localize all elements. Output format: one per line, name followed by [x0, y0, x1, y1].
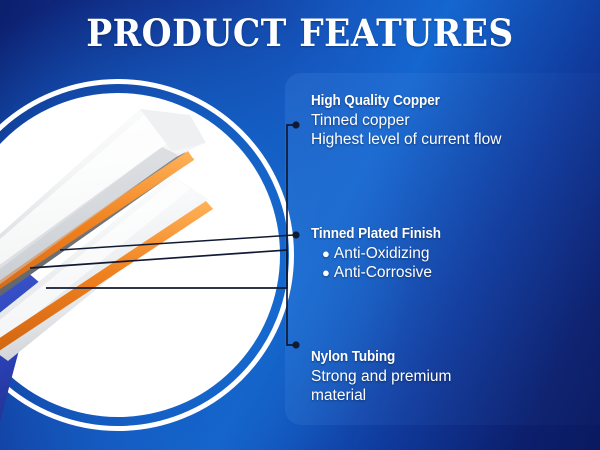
- callout-nylon-tubing: Nylon Tubing Strong and premium material: [311, 348, 451, 405]
- leader-dot-nylon: [292, 341, 299, 348]
- leader-dot-copper: [292, 121, 299, 128]
- callout-high-quality-copper: High Quality Copper Tinned copper Highes…: [311, 92, 501, 149]
- callout-line: Highest level of current flow: [311, 130, 501, 149]
- callout-tinned-plated-finish: Tinned Plated Finish ●Anti-Oxidizing ●An…: [311, 225, 455, 282]
- leader-line-nylon: [30, 250, 294, 345]
- callout-line: Anti-Corrosive: [334, 264, 432, 281]
- callout-heading: Nylon Tubing: [311, 348, 437, 365]
- callout-line: Anti-Oxidizing: [334, 245, 430, 262]
- leader-lines: [0, 0, 600, 450]
- callout-bullet: ●Anti-Corrosive: [311, 263, 455, 282]
- callout-bullet: ●Anti-Oxidizing: [311, 244, 455, 263]
- bullet-icon: ●: [322, 246, 330, 261]
- callout-line: Tinned copper: [311, 111, 501, 130]
- leader-dot-tinned: [292, 231, 299, 238]
- callout-heading: High Quality Copper: [311, 92, 482, 109]
- callout-line: material: [311, 386, 451, 405]
- callout-line: Strong and premium: [311, 367, 451, 386]
- leader-dots: [292, 121, 299, 348]
- leader-line-tinned: [60, 235, 294, 250]
- callout-heading: Tinned Plated Finish: [311, 225, 441, 242]
- product-features-infographic: PRODUCT FEATURES: [0, 0, 600, 450]
- bullet-icon: ●: [322, 265, 330, 280]
